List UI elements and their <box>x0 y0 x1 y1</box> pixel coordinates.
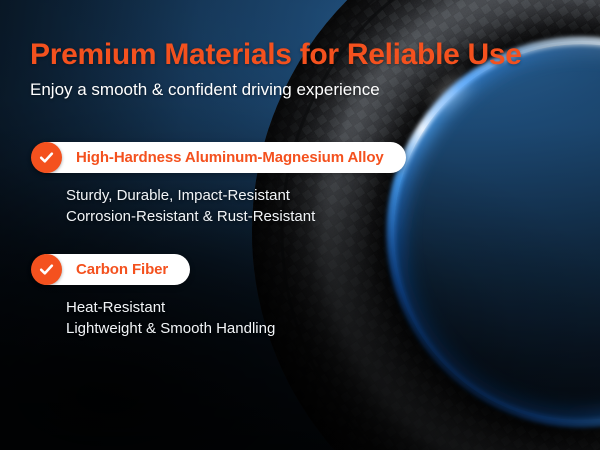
feature-description-line: Lightweight & Smooth Handling <box>66 318 275 339</box>
check-circle-icon <box>31 142 62 173</box>
feature-description-line: Sturdy, Durable, Impact-Resistant <box>66 185 406 206</box>
feature-description-carbon-fiber: Heat-Resistant Lightweight & Smooth Hand… <box>66 297 275 339</box>
page-subtitle: Enjoy a smooth & confident driving exper… <box>30 80 380 100</box>
page-title: Premium Materials for Reliable Use <box>30 38 522 72</box>
feature-item-alloy: High-Hardness Aluminum-Magnesium Alloy S… <box>32 142 406 227</box>
feature-badge-carbon-fiber: Carbon Fiber <box>32 254 190 285</box>
feature-item-carbon-fiber: Carbon Fiber Heat-Resistant Lightweight … <box>32 254 275 339</box>
banner-content: Premium Materials for Reliable Use Enjoy… <box>0 0 600 450</box>
feature-description-alloy: Sturdy, Durable, Impact-Resistant Corros… <box>66 185 406 227</box>
feature-badge-alloy: High-Hardness Aluminum-Magnesium Alloy <box>32 142 406 173</box>
feature-badge-label: High-Hardness Aluminum-Magnesium Alloy <box>76 149 384 166</box>
feature-description-line: Heat-Resistant <box>66 297 275 318</box>
feature-badge-label: Carbon Fiber <box>76 261 168 278</box>
product-feature-banner: Premium Materials for Reliable Use Enjoy… <box>0 0 600 450</box>
feature-description-line: Corrosion-Resistant & Rust-Resistant <box>66 206 406 227</box>
check-circle-icon <box>31 254 62 285</box>
